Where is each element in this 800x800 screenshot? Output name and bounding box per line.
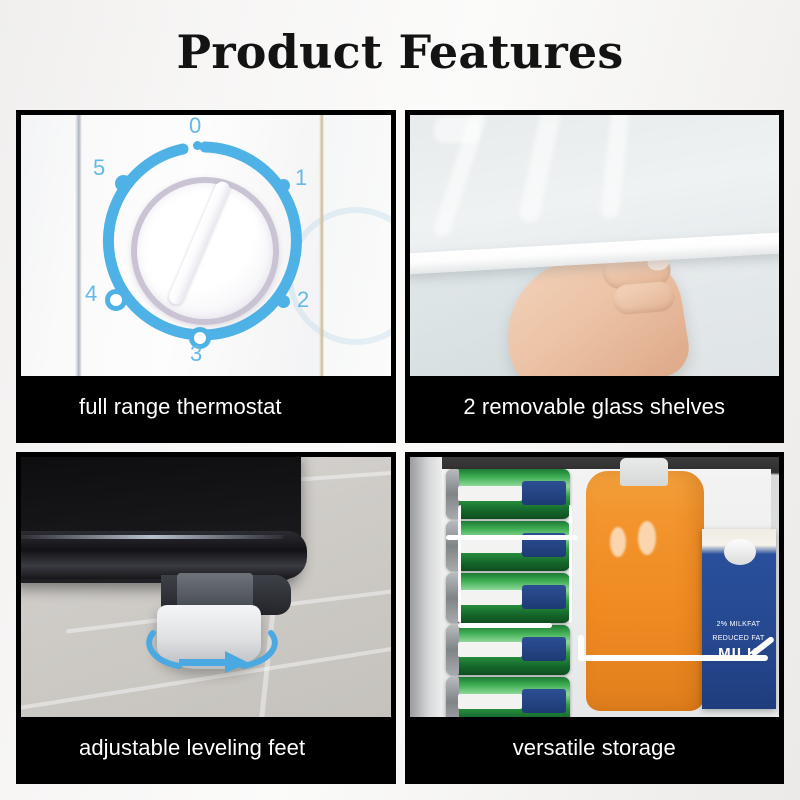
caption-thermostat: full range thermostat [21,376,391,438]
dial-tick-2 [277,295,290,308]
feature-card-shelves[interactable]: 2 removable glass shelves [405,110,785,443]
feature-card-thermostat[interactable]: 0 1 2 3 4 5 full range thermostat [16,110,396,443]
can-rack-bar-top [446,535,578,540]
middle-finger [611,280,675,315]
fridge-wall-rib-2 [517,115,561,224]
fridge-wall-rib-3 [600,115,630,220]
caption-shelves: 2 removable glass shelves [410,376,780,438]
soda-can [446,677,570,718]
thermostat-photo: 0 1 2 3 4 5 [21,115,391,376]
fridge-wall-knob [434,117,480,143]
milk-label-line1: 2% MILKFAT [702,621,776,628]
dial-label-2: 2 [297,287,309,313]
shelf-retainer-bar [578,655,768,661]
caption-leveling-feet: adjustable leveling feet [21,717,391,779]
fridge-panel-seam-right [319,115,324,376]
storage-photo: 2% MILKFAT REDUCED FAT MILK [410,457,780,718]
dial-label-0: 0 [189,115,201,139]
shelf-retainer-left [578,635,584,659]
dial-tick-5 [115,175,132,192]
base-highlight [21,535,283,539]
milk-cap [724,539,756,565]
thermostat-dial[interactable]: 0 1 2 3 4 5 [79,121,319,369]
soda-can [446,625,570,675]
caption-storage: versatile storage [410,717,780,779]
page-title-area: Product Features [0,0,800,104]
shelves-photo [410,115,780,376]
can-rack-bar-bottom [458,623,552,628]
dial-label-4: 4 [85,281,97,307]
dial-tick-4 [105,289,127,311]
dial-tick-0 [193,141,202,150]
page-title: Product Features [177,29,624,75]
orange-soda-bottle [586,471,704,712]
dial-label-5: 5 [93,155,105,181]
foot-stem [177,573,253,609]
feature-grid: 0 1 2 3 4 5 full range thermostat [16,110,784,784]
milk-carton: 2% MILKFAT REDUCED FAT MILK [702,529,776,710]
feature-card-leveling-feet[interactable]: adjustable leveling feet [16,452,396,785]
can-rack-wire [458,505,572,623]
leveling-feet-photo [21,457,391,718]
dial-label-3: 3 [190,341,202,367]
rotation-arrow-icon [139,615,285,673]
bottle-cap [620,458,668,486]
fridge-side-panel [324,115,391,376]
dial-tick-1 [277,179,290,192]
dial-label-1: 1 [295,165,307,191]
product-features-page: Product Features [0,0,800,800]
feature-card-storage[interactable]: 2% MILKFAT REDUCED FAT MILK versatile st… [405,452,785,785]
dial-knob[interactable] [131,177,279,325]
fridge-left-rail [410,457,442,718]
